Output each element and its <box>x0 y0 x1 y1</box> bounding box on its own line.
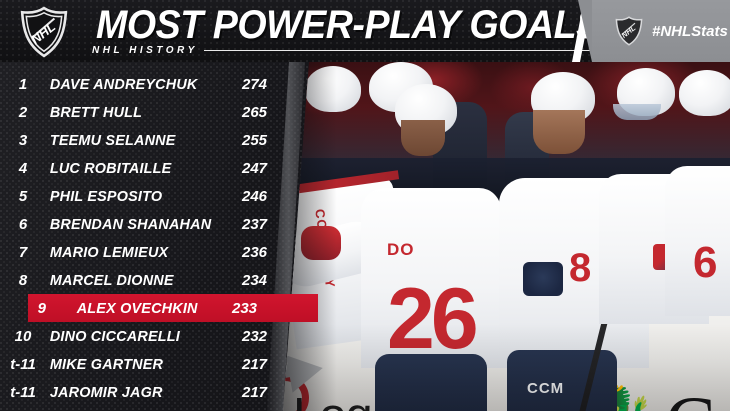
row-player-name: MARCEL DIONNE <box>46 272 230 289</box>
row-goal-count: 237 <box>238 216 300 233</box>
row-goal-count: 217 <box>238 356 300 373</box>
row-rank: 3 <box>0 132 46 149</box>
row-player-name: DAVE ANDREYCHUK <box>46 76 230 93</box>
leaderboard-row: 7MARIO LEMIEUX236 <box>0 238 300 266</box>
leaderboard-row: t-11MIKE GARTNER217 <box>0 350 300 378</box>
leaderboard-row: 8MARCEL DIONNE234 <box>0 266 300 294</box>
row-player-name: BRETT HULL <box>46 104 230 121</box>
row-player-name: BRENDAN SHANAHAN <box>46 216 230 233</box>
leaderboard-row-highlighted: 9ALEX OVECHKIN233 <box>28 294 318 322</box>
row-goal-count: 255 <box>238 132 300 149</box>
leaderboard-row: 10DINO CICCARELLI232 <box>0 322 300 350</box>
nhl-stat-graphic: Logistics 🐉 C CONNOLLY DO 26 8 C CCM <box>0 0 730 411</box>
row-goal-count: 274 <box>238 76 300 93</box>
row-player-name: TEEMU SELANNE <box>46 132 230 149</box>
hashtag-label: #NHLStats <box>652 23 728 40</box>
leaderboard-row: 1DAVE ANDREYCHUK274 <box>0 70 300 98</box>
row-rank: 9 <box>28 300 46 317</box>
row-rank: t-11 <box>0 384 46 401</box>
row-goal-count: 236 <box>238 244 300 261</box>
photo-vignette <box>283 62 730 411</box>
page-subtitle: NHL HISTORY <box>92 45 198 56</box>
row-player-name: MARIO LEMIEUX <box>46 244 230 261</box>
row-player-name: PHIL ESPOSITO <box>46 188 230 205</box>
row-player-name: DINO CICCARELLI <box>46 328 230 345</box>
nhl-stats-panel: NHL #NHLStats <box>592 0 730 62</box>
leaderboard-row: 4LUC ROBITAILLE247 <box>0 154 300 182</box>
nhl-shield-icon: NHL <box>614 16 644 46</box>
row-rank: 5 <box>0 188 46 205</box>
header-bar: NHL MOST POWER-PLAY GOALS NHL HISTORY NH… <box>0 0 730 62</box>
row-goal-count: 232 <box>238 328 300 345</box>
row-rank: 4 <box>0 160 46 177</box>
subtitle-rule <box>204 50 592 51</box>
leaderboard-row: t-11JAROMIR JAGR217 <box>0 378 300 406</box>
row-player-name: ALEX OVECHKIN <box>46 300 221 317</box>
row-rank: 8 <box>0 272 46 289</box>
row-goal-count: 246 <box>238 188 300 205</box>
leaderboard-row: 6BRENDAN SHANAHAN237 <box>0 210 300 238</box>
page-title: MOST POWER-PLAY GOALS <box>96 3 601 48</box>
leaderboard-list: 1DAVE ANDREYCHUK2742BRETT HULL2653TEEMU … <box>0 70 300 406</box>
row-goal-count: 265 <box>238 104 300 121</box>
row-goal-count: 247 <box>238 160 300 177</box>
row-rank: 7 <box>0 244 46 261</box>
celebration-photo: Logistics 🐉 C CONNOLLY DO 26 8 C CCM <box>283 62 730 411</box>
leaderboard-row: 5PHIL ESPOSITO246 <box>0 182 300 210</box>
row-rank: 10 <box>0 328 46 345</box>
leaderboard-row: 3TEEMU SELANNE255 <box>0 126 300 154</box>
row-player-name: MIKE GARTNER <box>46 356 230 373</box>
subtitle-group: NHL HISTORY <box>92 43 592 57</box>
row-rank: t-11 <box>0 356 46 373</box>
row-goal-count: 233 <box>228 300 318 317</box>
row-rank: 6 <box>0 216 46 233</box>
nhl-shield-icon: NHL <box>18 6 70 58</box>
row-goal-count: 217 <box>238 384 300 401</box>
row-player-name: LUC ROBITAILLE <box>46 160 230 177</box>
row-player-name: JAROMIR JAGR <box>46 384 230 401</box>
leaderboard-row: 2BRETT HULL265 <box>0 98 300 126</box>
row-rank: 1 <box>0 76 46 93</box>
row-rank: 2 <box>0 104 46 121</box>
row-goal-count: 234 <box>238 272 300 289</box>
